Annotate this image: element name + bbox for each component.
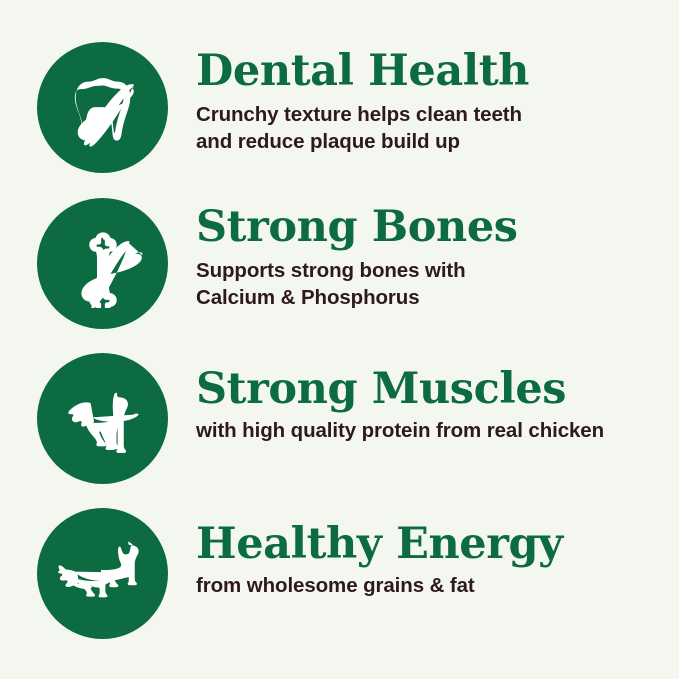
benefit-desc-dental-health: Crunchy texture helps clean teeth and re…: [196, 101, 672, 155]
benefit-desc-line: with high quality protein from real chic…: [196, 417, 672, 444]
leaping-dog-icon-badge: [37, 508, 168, 639]
benefit-desc-line: from wholesome grains & fat: [196, 572, 672, 599]
leaping-dog-icon: [51, 522, 155, 626]
benefit-text-dental-health: Dental Health Crunchy texture helps clea…: [196, 50, 672, 155]
benefit-text-strong-bones: Strong Bones Supports strong bones with …: [196, 206, 672, 311]
benefit-title-dental-health: Dental Health: [196, 50, 672, 93]
benefits-infographic: Dental Health Crunchy texture helps clea…: [0, 0, 679, 679]
bone-leaf-icon-badge: [37, 198, 168, 329]
benefit-title-strong-bones: Strong Bones: [196, 206, 672, 249]
tooth-leaf-icon-badge: [37, 42, 168, 173]
benefit-title-strong-muscles: Strong Muscles: [196, 368, 672, 411]
benefit-desc-strong-bones: Supports strong bones with Calcium & Pho…: [196, 257, 672, 311]
benefit-desc-line: Supports strong bones with: [196, 257, 672, 284]
benefit-desc-strong-muscles: with high quality protein from real chic…: [196, 417, 672, 444]
standing-dog-icon-badge: [37, 353, 168, 484]
benefit-text-healthy-energy: Healthy Energy from wholesome grains & f…: [196, 523, 672, 599]
benefit-desc-line: Crunchy texture helps clean teeth: [196, 101, 672, 128]
benefit-desc-line: and reduce plaque build up: [196, 128, 672, 155]
benefit-text-strong-muscles: Strong Muscles with high quality protein…: [196, 368, 672, 444]
benefit-desc-line: Calcium & Phosphorus: [196, 284, 672, 311]
standing-dog-icon: [55, 371, 151, 467]
tooth-leaf-icon: [59, 64, 147, 152]
bone-leaf-icon: [59, 220, 147, 308]
benefit-title-healthy-energy: Healthy Energy: [196, 523, 672, 566]
benefit-desc-healthy-energy: from wholesome grains & fat: [196, 572, 672, 599]
